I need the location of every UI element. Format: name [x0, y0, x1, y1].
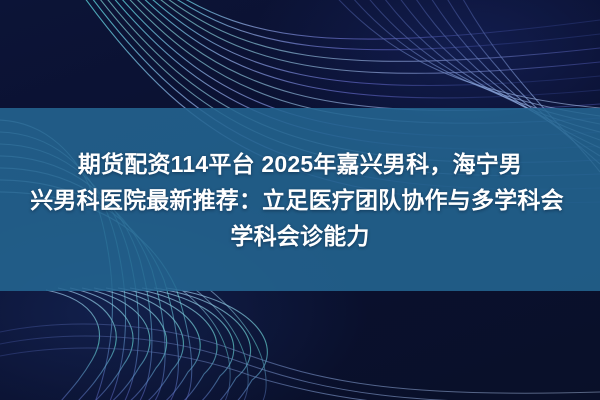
headline-container: 期货配资114平台 2025年嘉兴男科，海宁男 兴男科医院最新推荐：立足医疗团队…: [0, 0, 600, 400]
promo-banner: 期货配资114平台 2025年嘉兴男科，海宁男 兴男科医院最新推荐：立足医疗团队…: [0, 0, 600, 400]
headline-text: 期货配资114平台 2025年嘉兴男科，海宁男 兴男科医院最新推荐：立足医疗团队…: [0, 146, 600, 254]
headline-line-3: 学科会诊能力: [0, 218, 600, 254]
headline-line-2: 兴男科医院最新推荐：立足医疗团队协作与多学科会: [0, 182, 600, 218]
headline-line-1: 期货配资114平台 2025年嘉兴男科，海宁男: [0, 146, 600, 182]
